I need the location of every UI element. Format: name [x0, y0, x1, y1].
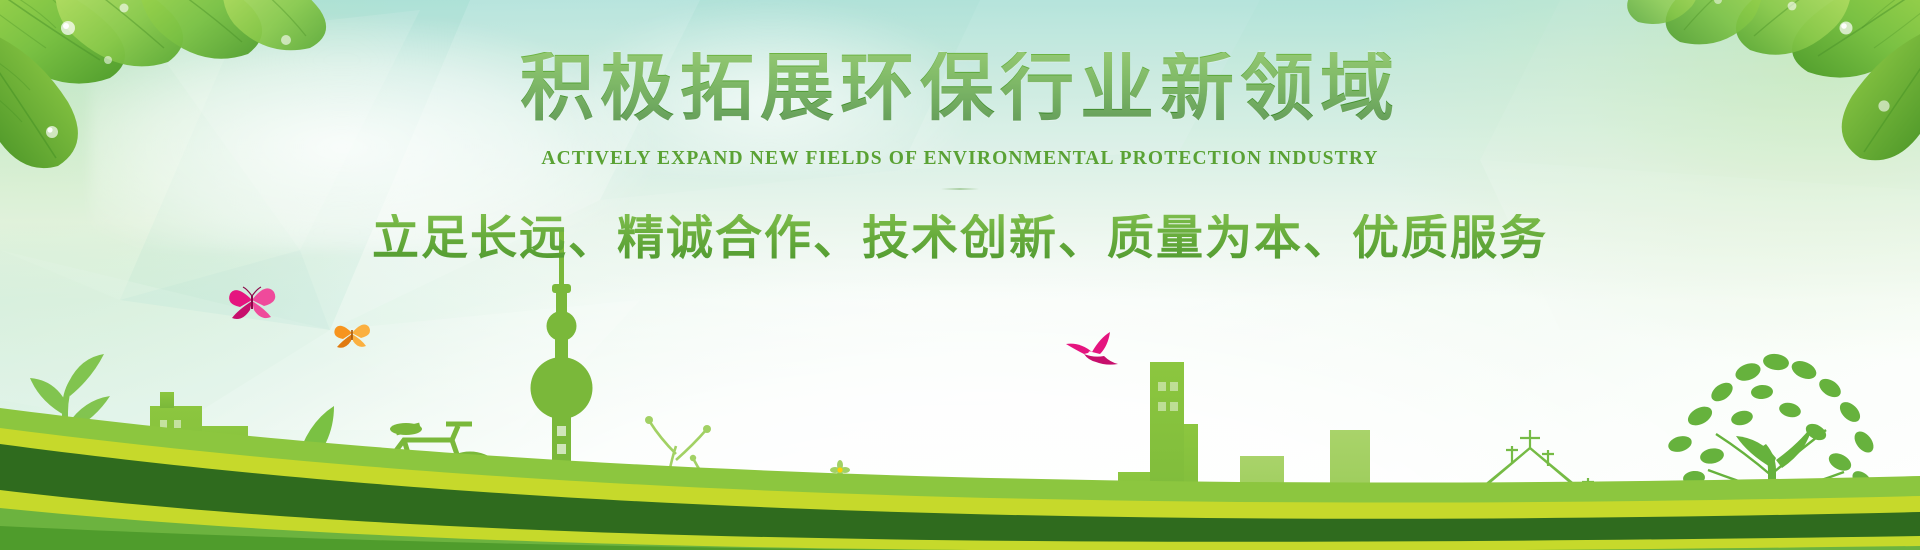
leaf-cluster-top-left: [0, 0, 420, 201]
bird-icon: [1066, 332, 1118, 365]
dewdrop-icon: [1878, 100, 1889, 111]
leaf-cluster-top-right: [1550, 0, 1920, 174]
title-divider: [941, 188, 979, 190]
dewdrop-icon: [1840, 22, 1853, 35]
dewdrop-icon: [46, 126, 58, 138]
eco-banner: 积极拓展环保行业新领域 ACTIVELY EXPAND NEW FIELDS O…: [0, 0, 1920, 550]
dewdrop-icon: [104, 56, 112, 64]
butterfly-icon-pink: [229, 287, 275, 319]
page-tagline: 立足长远、精诚合作、技术创新、质量为本、优质服务: [0, 214, 1920, 266]
butterfly-icon-orange: [334, 325, 370, 348]
dewdrop-icon: [281, 35, 291, 45]
dewdrop-icon: [1788, 2, 1797, 11]
dewdrop-icon: [120, 4, 129, 13]
